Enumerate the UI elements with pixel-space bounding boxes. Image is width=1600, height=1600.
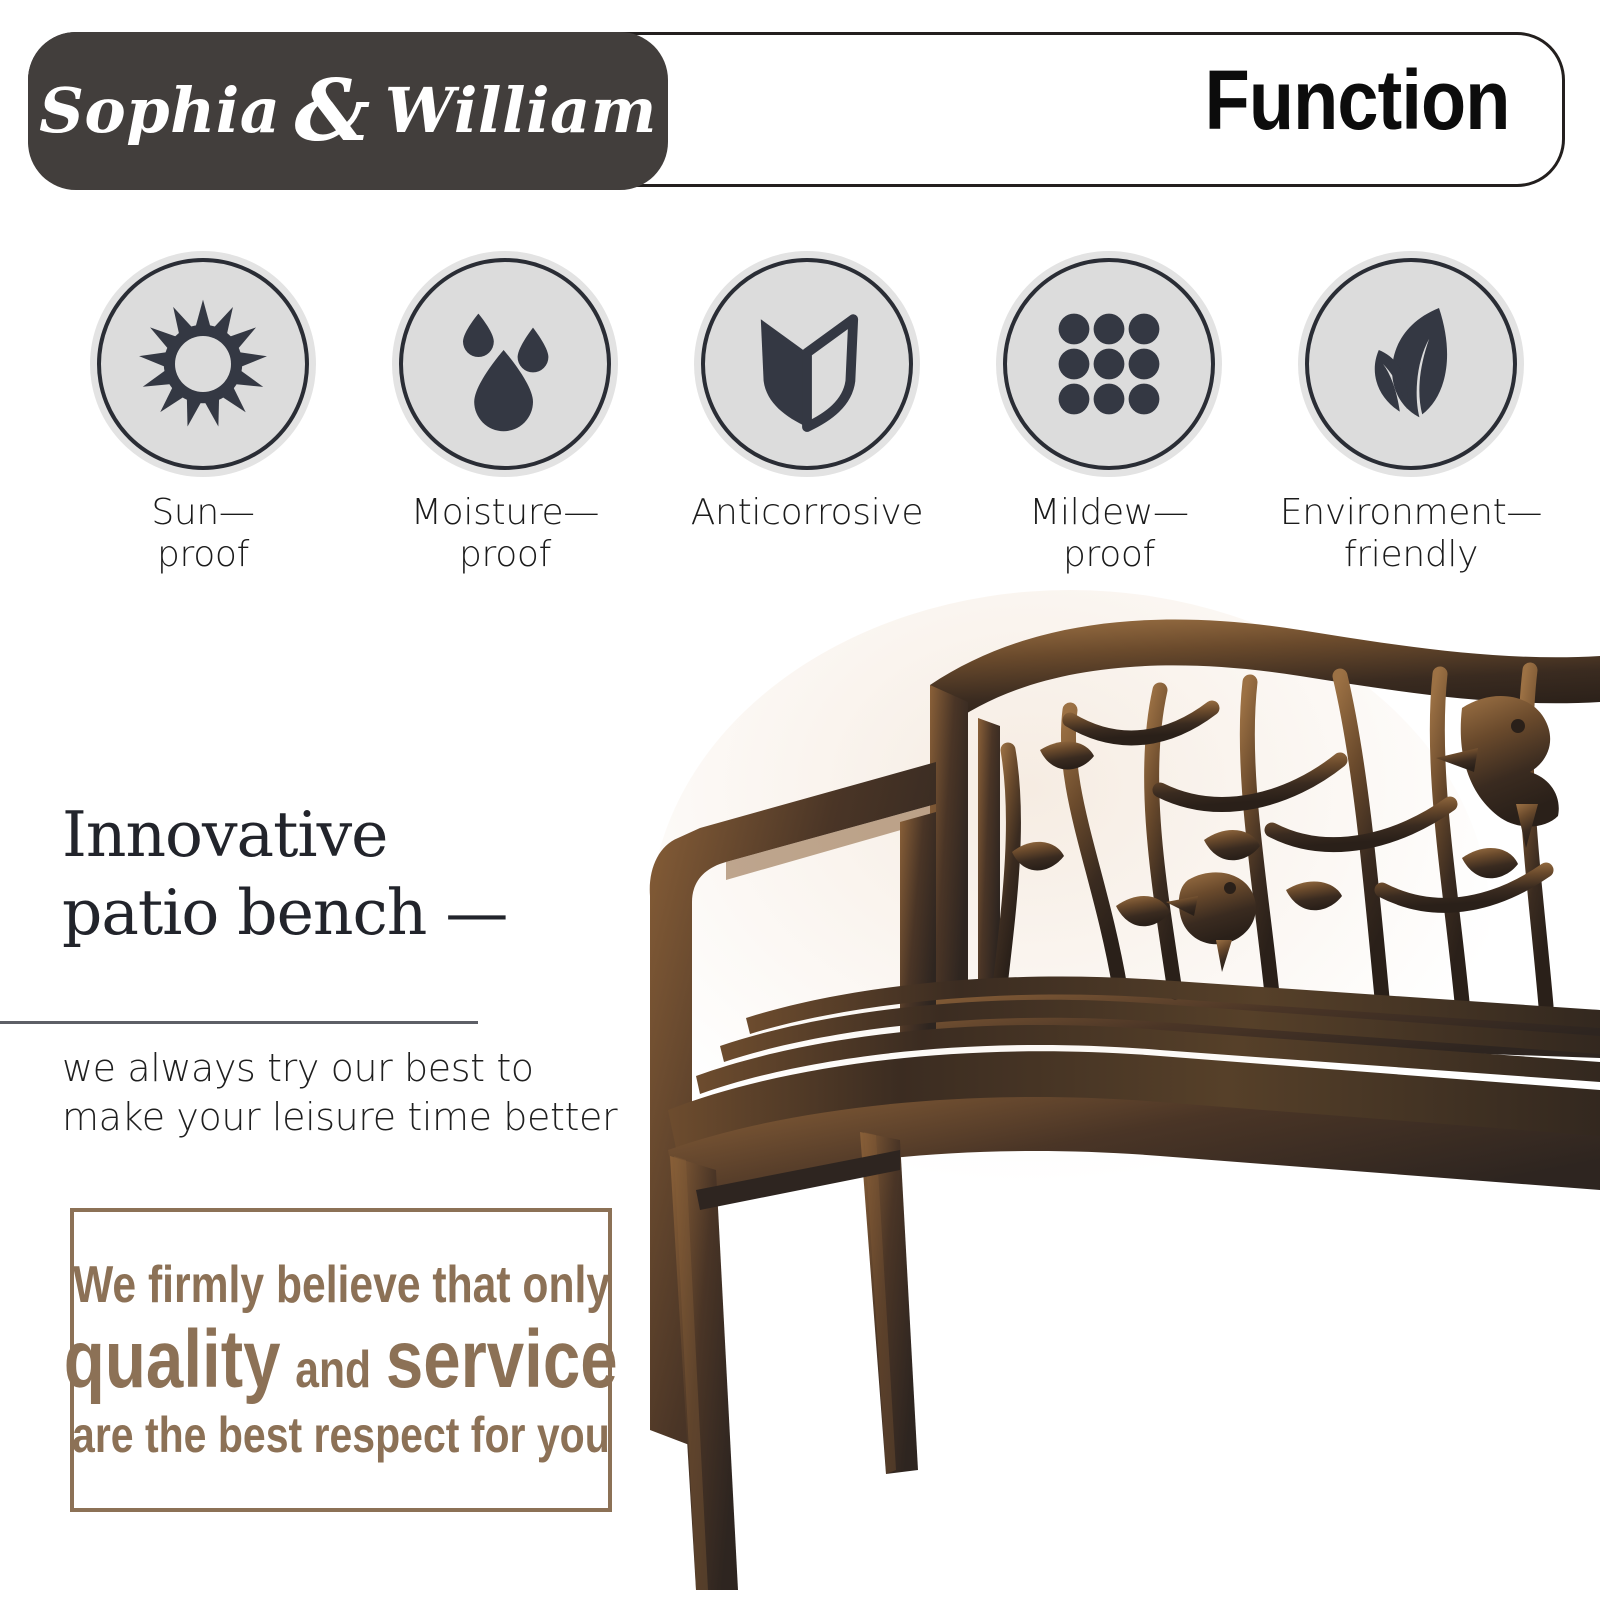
- feature-badge: [399, 258, 611, 470]
- quality-line-3: are the best respect for you: [72, 1407, 610, 1463]
- feature-label: Mildew— proof: [1029, 492, 1188, 577]
- quality-promise-box: We firmly believe that only quality and …: [70, 1208, 612, 1512]
- subtext-line-2: make your leisure time better: [62, 1093, 662, 1142]
- headline-line-2: patio bench —: [62, 874, 622, 952]
- product-image-patio-bench: [600, 590, 1600, 1600]
- feature-badge: [701, 258, 913, 470]
- feature-item-environment-friendly: Environment— friendly: [1270, 258, 1552, 577]
- headline-divider: [0, 1021, 478, 1024]
- bench-illustration: [600, 590, 1600, 1600]
- feature-item-sun-proof: Sun— proof: [62, 258, 344, 577]
- promo-headline: Innovative patio bench —: [62, 796, 622, 952]
- feature-label: Environment— friendly: [1280, 492, 1542, 577]
- quality-line-1: We firmly believe that only: [72, 1257, 609, 1314]
- feature-badge: [97, 258, 309, 470]
- feature-label: Anticorrosive: [691, 492, 924, 534]
- shield-icon: [737, 294, 877, 434]
- brand-wordmark: Sophia & William: [39, 69, 657, 153]
- feature-item-anticorrosive: Anticorrosive: [666, 258, 948, 534]
- dot-grid-icon: [1039, 294, 1179, 434]
- feature-badge: [1305, 258, 1517, 470]
- feature-list: Sun— proof Moisture— proof: [62, 258, 1552, 578]
- quality-word: quality: [64, 1317, 281, 1403]
- water-drop-icon: [435, 294, 575, 434]
- subtext-line-1: we always try our best to: [62, 1044, 662, 1093]
- feature-item-mildew-proof: Mildew— proof: [968, 258, 1250, 577]
- and-word: and: [296, 1343, 372, 1398]
- feature-label: Sun— proof: [151, 492, 254, 577]
- brand-first-name: Sophia: [39, 80, 280, 142]
- product-feature-banner: Sophia & William Function: [0, 0, 1600, 1600]
- ampersand-icon: &: [294, 69, 370, 153]
- feature-label: Moisture— proof: [411, 492, 599, 577]
- sun-icon: [133, 294, 273, 434]
- feature-badge: [1003, 258, 1215, 470]
- leaf-icon: [1341, 294, 1481, 434]
- quality-line-2: quality and service: [64, 1317, 618, 1403]
- page-title: Function: [1205, 52, 1510, 149]
- brand-last-name: William: [385, 80, 657, 142]
- promo-subtext: we always try our best to make your leis…: [62, 1044, 662, 1143]
- feature-item-moisture-proof: Moisture— proof: [364, 258, 646, 577]
- brand-logo: Sophia & William: [28, 32, 668, 190]
- headline-line-1: Innovative: [62, 796, 622, 874]
- service-word: service: [386, 1317, 618, 1403]
